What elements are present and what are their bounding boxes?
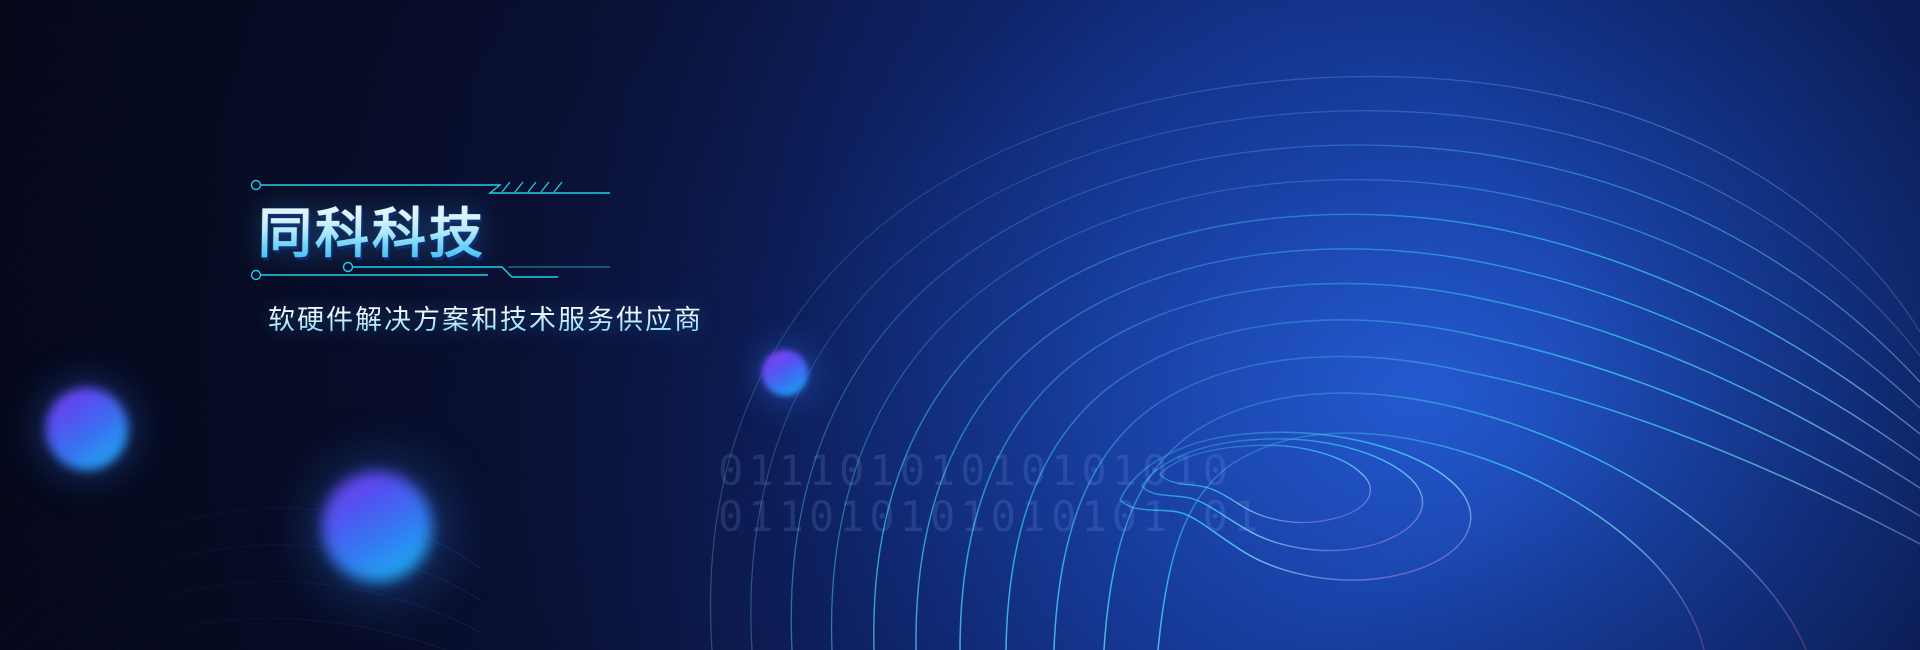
page-subtitle: 软硬件解决方案和技术服务供应商	[268, 304, 703, 338]
binary-text-line-2: 011010101010101 01	[718, 492, 1263, 541]
orb-left	[46, 388, 128, 470]
orb-lower-left	[322, 472, 432, 582]
brand-title-wrap: 同科科技	[258, 205, 486, 265]
orb-center	[762, 350, 808, 396]
binary-text-line-1: 01110101010101010	[718, 446, 1233, 495]
page-title: 同科科技	[257, 205, 486, 263]
tech-line-bottom	[240, 259, 610, 285]
tech-line-top	[240, 176, 610, 196]
hero-banner: 01110101010101010 011010101010101 01 同科科…	[0, 0, 1920, 650]
